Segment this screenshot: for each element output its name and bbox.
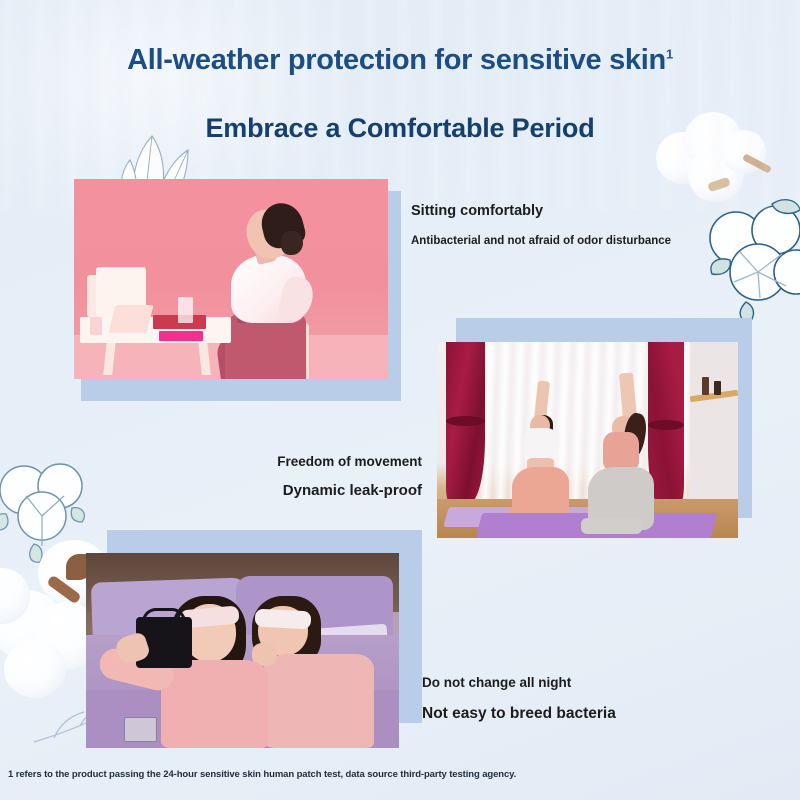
caption-bedroom-title: Do not change all night [422, 675, 571, 690]
caption-bedroom-sub: Not easy to breed bacteria [422, 705, 616, 723]
caption-office-title: Sitting comfortably [411, 203, 543, 219]
headline-superscript: 1 [666, 46, 673, 61]
caption-yoga-title: Freedom of movement [277, 454, 422, 469]
caption-yoga-sub: Dynamic leak-proof [283, 482, 422, 499]
page-title: All-weather protection for sensitive ski… [0, 44, 800, 77]
panel-yoga [430, 305, 760, 575]
marketing-poster: All-weather protection for sensitive ski… [0, 0, 800, 800]
panel-bedroom [70, 525, 420, 755]
photo-bedroom [86, 553, 399, 748]
page-subtitle: Embrace a Comfortable Period [0, 113, 800, 144]
caption-office-sub: Antibacterial and not afraid of odor dis… [411, 235, 671, 247]
photo-office [74, 179, 388, 379]
headline-text: All-weather protection for sensitive ski… [127, 44, 666, 76]
footnote: 1 refers to the product passing the 24-h… [8, 769, 516, 780]
photo-yoga [437, 342, 738, 538]
panel-office [60, 170, 410, 400]
